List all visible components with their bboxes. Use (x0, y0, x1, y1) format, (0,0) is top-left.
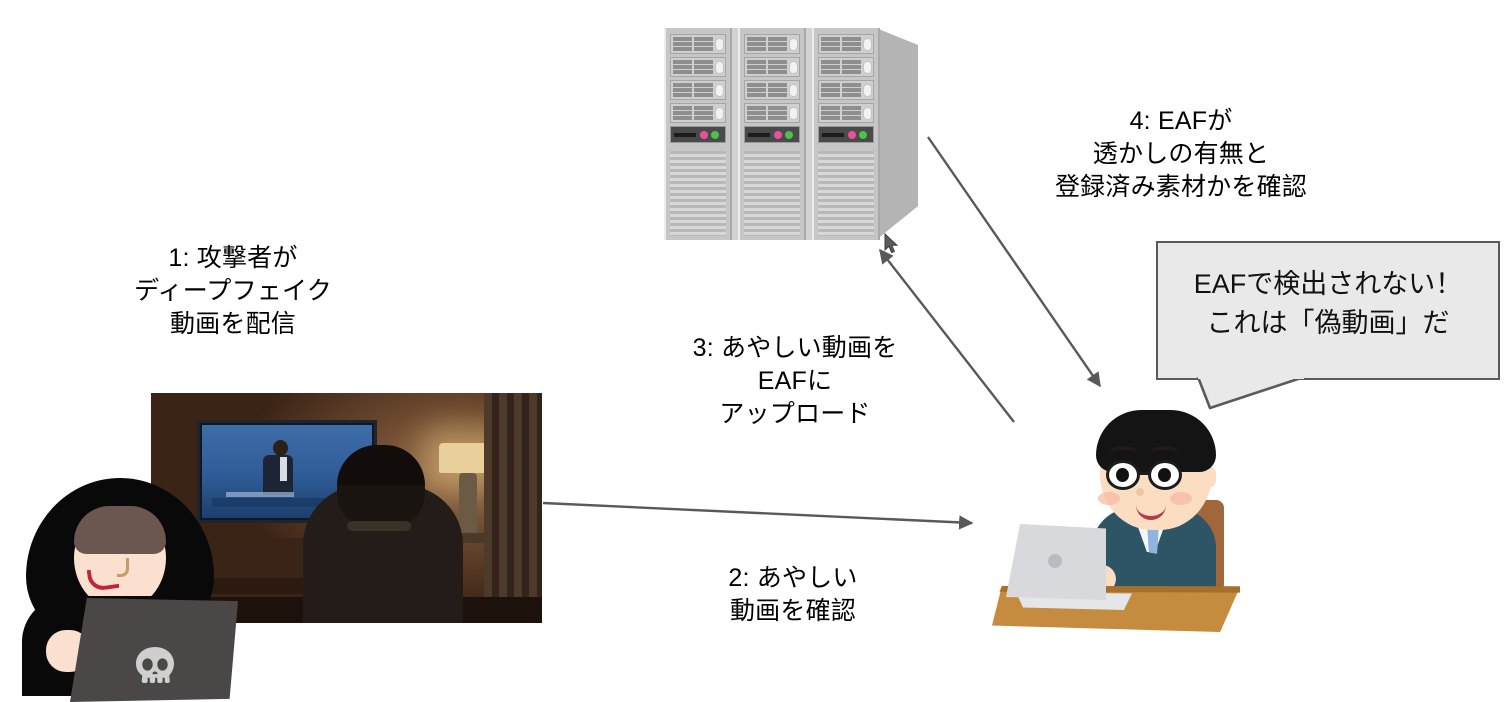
server-bay (744, 34, 800, 54)
server-bay (744, 103, 800, 123)
speech-bubble-tail (1196, 376, 1316, 410)
speech-bubble-text: EAFで検出されない！ これは「偽動画」だ (1158, 265, 1498, 343)
skull-icon (134, 646, 176, 690)
server-side-panel (876, 28, 918, 240)
server-bay (818, 103, 874, 123)
label-step1: 1: 攻撃者が ディープフェイク 動画を配信 (88, 242, 378, 341)
bay-led-icon (864, 108, 871, 119)
glasses-bridge (1139, 472, 1151, 475)
photo-lamp-stem (459, 473, 477, 537)
server-bay (818, 34, 874, 54)
server-bay (670, 34, 726, 54)
bay-led-icon (864, 39, 871, 50)
attacker-hood-shadow (74, 506, 166, 554)
label-step3: 3: あやしい動画を EAFに アップロード (640, 332, 950, 431)
server-control-panel (818, 126, 874, 143)
bay-led-icon (790, 39, 797, 50)
photo-viewer-collar (347, 521, 411, 531)
analyst-eyebrow-right (1151, 446, 1179, 460)
server-bay (818, 57, 874, 77)
server-bay (670, 80, 726, 100)
analyst-illustration (992, 404, 1240, 630)
server-bay (670, 57, 726, 77)
bay-led-icon (790, 108, 797, 119)
bay-led-icon (790, 85, 797, 96)
server-front (664, 28, 880, 240)
diagram-canvas: EAFで検出されない！ これは「偽動画」だ 1: 攻撃者が ディープフェイク 動… (0, 0, 1510, 702)
bay-led-icon (716, 39, 723, 50)
server-vents (818, 151, 874, 236)
analyst-nose (1136, 488, 1144, 496)
photo-anchor-shirt (280, 457, 287, 481)
label-step2: 2: あやしい 動画を確認 (648, 562, 938, 628)
server-bay (670, 103, 726, 123)
server-rack-unit (812, 28, 880, 240)
analyst-eye-right (1158, 468, 1171, 482)
bay-led-icon (716, 108, 723, 119)
server-vents (670, 151, 726, 236)
mouse-pointer-icon (884, 233, 900, 255)
photo-curtain (484, 393, 542, 623)
bay-led-icon (790, 62, 797, 73)
photo-tv-ticker (226, 492, 294, 497)
bay-led-icon (864, 85, 871, 96)
status-led-green-icon (859, 131, 867, 139)
server-rack-unit (664, 28, 732, 240)
bay-led-icon (864, 62, 871, 73)
server-rack-unit (738, 28, 806, 240)
attacker-illustration (22, 478, 218, 692)
status-led-green-icon (711, 131, 719, 139)
label-step4: 4: EAFが 透かしの有無と 登録済み素材かを確認 (1000, 105, 1362, 204)
status-led-green-icon (785, 131, 793, 139)
analyst-eye-left (1116, 468, 1129, 482)
server-bay (744, 80, 800, 100)
server-bay (818, 80, 874, 100)
bay-led-icon (716, 62, 723, 73)
status-led-pink-icon (774, 131, 782, 139)
server-control-panel (744, 126, 800, 143)
server-bay (744, 57, 800, 77)
analyst-eyebrow-left (1109, 446, 1137, 460)
server-vents (744, 151, 800, 236)
status-led-pink-icon (700, 131, 708, 139)
arrow-step2 (543, 503, 972, 523)
server-rack-illustration (664, 28, 918, 240)
analyst-cheek-left (1098, 492, 1120, 505)
analyst-cheek-right (1170, 492, 1192, 505)
speech-bubble: EAFで検出されない！ これは「偽動画」だ (1156, 241, 1500, 380)
photo-anchor-head (273, 440, 288, 456)
status-led-pink-icon (848, 131, 856, 139)
server-control-panel (670, 126, 726, 143)
photo-anchor-body (263, 455, 293, 495)
laptop-logo-icon (1048, 554, 1062, 568)
bay-led-icon (716, 85, 723, 96)
